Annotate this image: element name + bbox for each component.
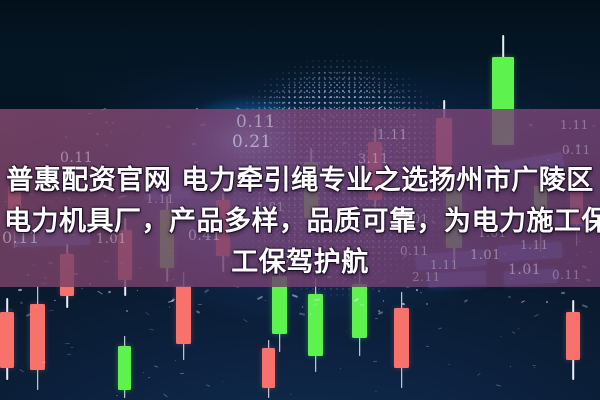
price-number: 0.11: [562, 143, 591, 157]
price-number: 0.21: [232, 132, 272, 152]
price-number: 1.11: [377, 128, 408, 143]
headline-line-2: 电力机具厂，产品多样，品质可靠，为电力施工保驾: [4, 201, 596, 242]
price-number: 1.11: [560, 118, 589, 132]
price-number: 0.11: [236, 112, 276, 132]
headline-text: 普惠配资官网 电力牵引绳专业之选扬州市广陵区 电力机具厂，产品多样，品质可靠，为…: [0, 160, 600, 283]
headline-line-3: 工保驾护航: [4, 242, 596, 283]
banner-image: 0.110.211.113.111.110.110.110.111.010.41…: [0, 0, 600, 400]
headline-line-1: 普惠配资官网 电力牵引绳专业之选扬州市广陵区: [4, 160, 596, 201]
